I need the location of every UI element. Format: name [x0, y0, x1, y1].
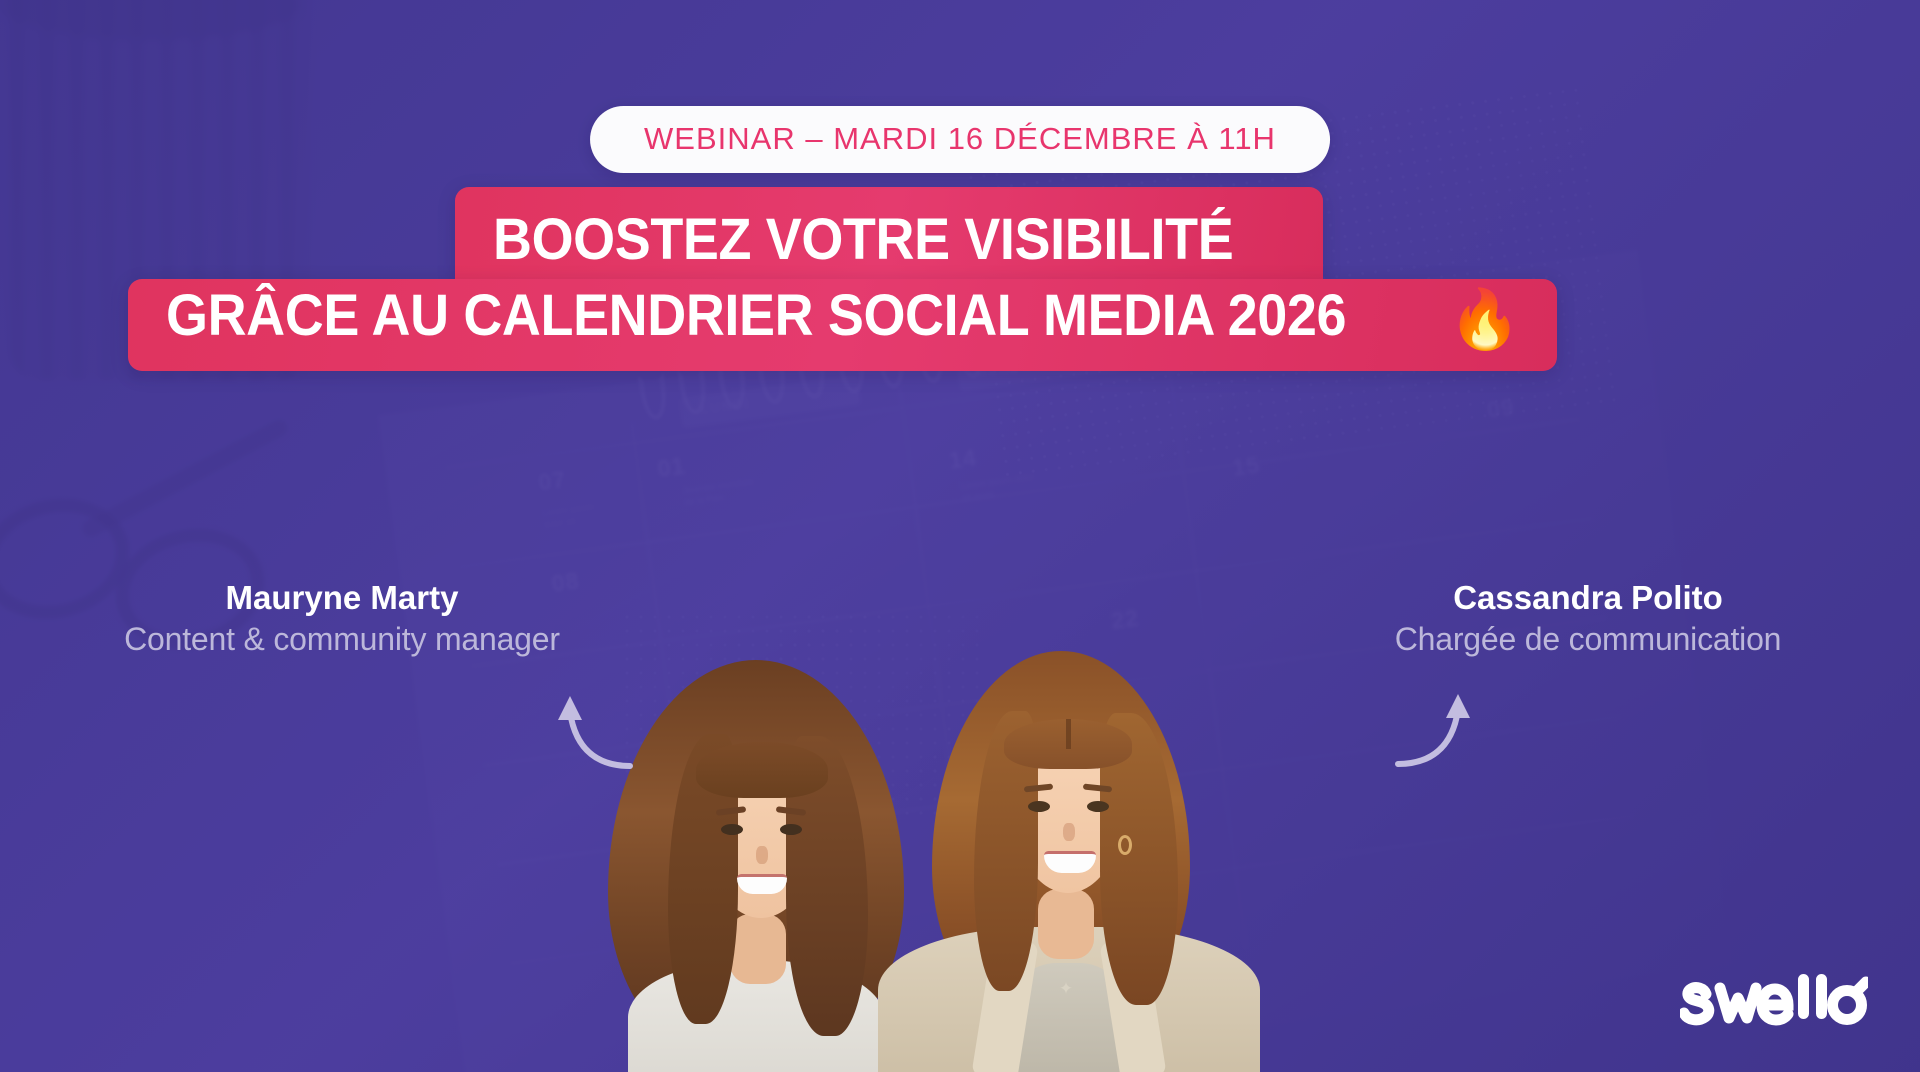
headline-line-1: BOOSTEZ VOTRE VISIBILITÉ — [455, 187, 1323, 283]
speaker-left-name: Mauryne Marty — [62, 578, 622, 619]
speaker-left-role: Content & community manager — [62, 619, 622, 661]
swello-logo — [1680, 972, 1868, 1034]
headline-line-2: GRÂCE AU CALENDRIER SOCIAL MEDIA 2026🔥 — [128, 279, 1557, 371]
speaker-right: Cassandra Polito Chargée de communicatio… — [1308, 578, 1868, 661]
headline-line-2-text: GRÂCE AU CALENDRIER SOCIAL MEDIA 2026 — [166, 287, 1346, 345]
webinar-date-badge-label: WEBINAR – MARDI 16 DÉCEMBRE À 11H — [644, 123, 1276, 154]
headline-block: BOOSTEZ VOTRE VISIBILITÉ GRÂCE AU CALEND… — [0, 187, 1920, 371]
speakers-photo: ✦ — [580, 612, 1340, 1072]
swello-wordmark-icon — [1680, 972, 1868, 1034]
webinar-date-badge: WEBINAR – MARDI 16 DÉCEMBRE À 11H — [590, 106, 1330, 173]
headline-line-1-text: BOOSTEZ VOTRE VISIBILITÉ — [493, 211, 1233, 269]
curved-arrow-left-icon — [548, 690, 634, 775]
curved-arrow-right-icon — [1394, 688, 1480, 773]
fire-emoji-icon: 🔥 — [1449, 291, 1521, 349]
speaker-left: Mauryne Marty Content & community manage… — [62, 578, 622, 661]
speaker-right-portrait: ✦ — [870, 627, 1260, 1072]
speaker-right-name: Cassandra Polito — [1308, 578, 1868, 619]
speaker-right-role: Chargée de communication — [1308, 619, 1868, 661]
